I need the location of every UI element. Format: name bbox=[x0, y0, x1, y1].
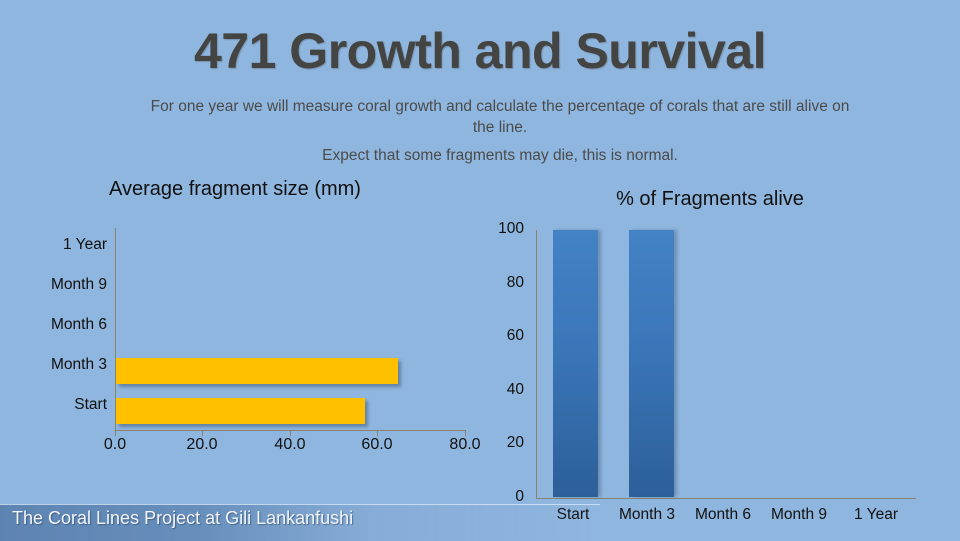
chart-left-category-label-1-year: 1 Year bbox=[11, 236, 107, 254]
chart-right-category-label-1-year: 1 Year bbox=[831, 506, 921, 524]
chart-right-category-axis bbox=[536, 498, 916, 499]
chart-average-fragment-size: Average fragment size (mm) 1 Year Month … bbox=[0, 178, 480, 478]
footer-caption: The Coral Lines Project at Gili Lankanfu… bbox=[12, 508, 353, 529]
chart-left-xtick-label-40: 40.0 bbox=[255, 436, 325, 454]
chart-left-bar-start[interactable] bbox=[116, 398, 365, 424]
subtitle-line-1: For one year we will measure coral growt… bbox=[151, 98, 850, 136]
chart-percent-fragments-alive: % of Fragments alive 100 80 60 40 20 0 S… bbox=[480, 188, 960, 528]
chart-left-category-label-month-6: Month 6 bbox=[11, 316, 107, 334]
chart-left-xtick-label-0: 0.0 bbox=[80, 436, 150, 454]
subtitle-line-2: Expect that some fragments may die, this… bbox=[150, 145, 850, 166]
chart-left-title: Average fragment size (mm) bbox=[0, 178, 470, 201]
chart-right-value-axis bbox=[536, 230, 537, 498]
slide-subtitle: For one year we will measure coral growt… bbox=[150, 96, 850, 166]
chart-right-bar-month-3[interactable] bbox=[629, 230, 674, 497]
chart-left-category-label-month-3: Month 3 bbox=[11, 356, 107, 374]
chart-right-ytick-label-80: 80 bbox=[480, 274, 524, 292]
chart-left-xtick-label-20: 20.0 bbox=[167, 436, 237, 454]
chart-right-ytick-label-20: 20 bbox=[480, 434, 524, 452]
chart-left-plot-area bbox=[115, 228, 465, 430]
chart-right-plot-area bbox=[536, 230, 916, 498]
chart-left-category-label-start: Start bbox=[11, 396, 107, 414]
chart-right-bar-start[interactable] bbox=[553, 230, 598, 497]
chart-left-bar-month-3[interactable] bbox=[116, 358, 398, 384]
chart-right-ytick-label-60: 60 bbox=[480, 327, 524, 345]
chart-right-title: % of Fragments alive bbox=[535, 188, 885, 211]
chart-right-ytick-label-100: 100 bbox=[480, 220, 524, 238]
page-title: 471 Growth and Survival bbox=[0, 22, 960, 80]
chart-left-xtick-label-60: 60.0 bbox=[342, 436, 412, 454]
chart-right-ytick-label-40: 40 bbox=[480, 381, 524, 399]
chart-left-category-label-month-9: Month 9 bbox=[11, 276, 107, 294]
